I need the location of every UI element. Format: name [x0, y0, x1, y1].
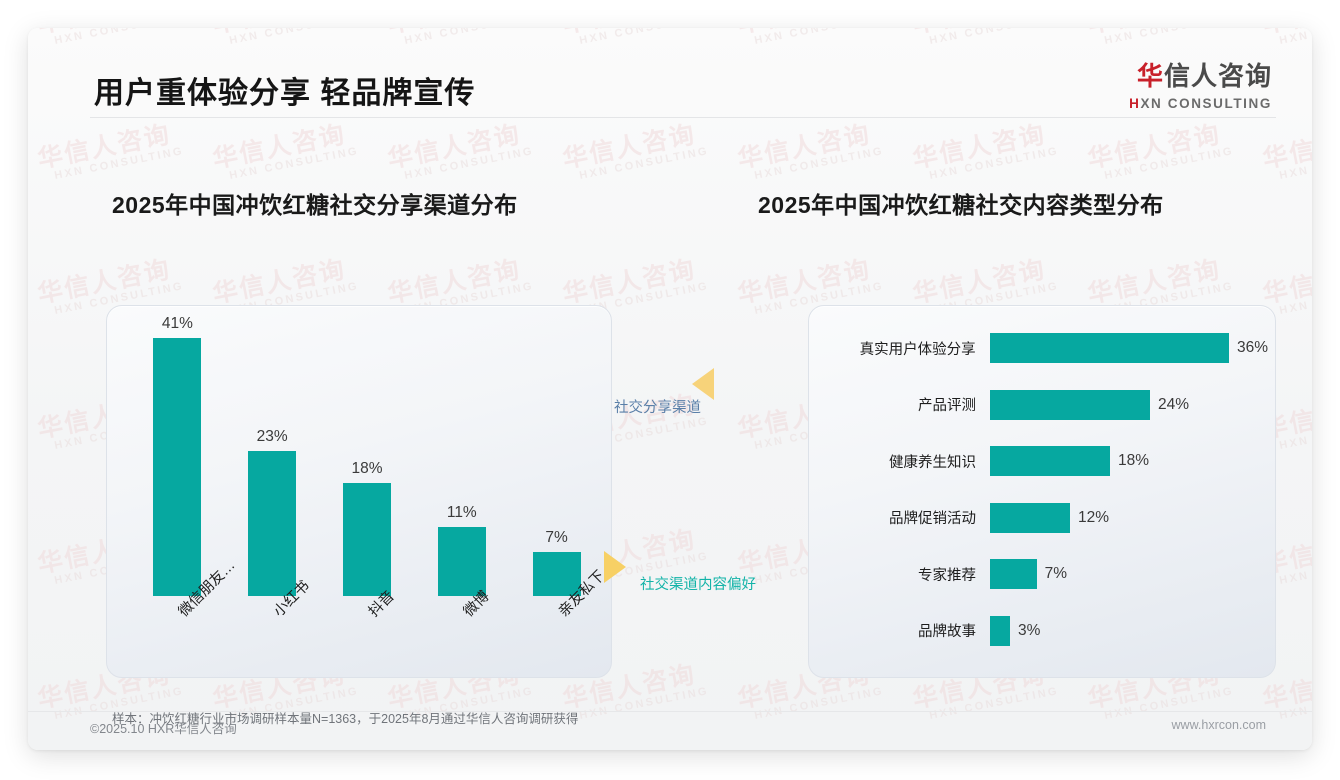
footer-copyright: ©2025.10 HXR华信人咨询 [90, 718, 237, 737]
bar-column[interactable]: 18% [339, 296, 395, 596]
vertical-bar-plot-area: 41%23%18%11%7% [130, 296, 604, 596]
page-title: 用户重体验分享 轻品牌宣传 [94, 68, 475, 112]
bar-value-label: 36% [1237, 339, 1268, 357]
middle-label-social-share-channel: 社交分享渠道 [614, 396, 701, 417]
left-chart-title: 2025年中国冲饮红糖社交分享渠道分布 [112, 186, 518, 220]
bar-category-label: 真实用户体验分享 [828, 338, 990, 359]
middle-label-content-preference: 社交渠道内容偏好 [640, 573, 756, 594]
watermark-text: 华信人咨询HXN CONSULTING [36, 120, 186, 186]
bar-category-label: 品牌故事 [828, 620, 990, 641]
social-content-type-bar-chart: 真实用户体验分享36%产品评测24%健康养生知识18%品牌促销活动12%专家推荐… [828, 320, 1268, 660]
bar-rect[interactable] [990, 333, 1229, 363]
logo-en-rest: XN CONSULTING [1140, 96, 1272, 111]
bar-rect[interactable] [248, 451, 296, 596]
slide-header: 用户重体验分享 轻品牌宣传 华信人咨询 HXN CONSULTING [28, 28, 1312, 118]
bar-value-label: 18% [1118, 452, 1149, 470]
bar-category-label: 专家推荐 [828, 564, 990, 585]
bar-rect[interactable] [990, 390, 1150, 420]
middle-top-label-text: 社交分享渠道 [614, 396, 701, 417]
bar-rect[interactable] [343, 483, 391, 596]
bar-row[interactable]: 品牌故事3% [828, 603, 1268, 660]
bar-value-label: 12% [1078, 509, 1109, 527]
logo-chinese: 华信人咨询 [1129, 56, 1272, 93]
bar-value-label: 7% [545, 529, 567, 547]
watermark-text: 华信人咨询HXN CONSULTING [561, 120, 711, 186]
middle-bottom-label-text: 社交渠道内容偏好 [640, 573, 756, 594]
bar-row[interactable]: 产品评测24% [828, 377, 1268, 434]
bar-row[interactable]: 专家推荐7% [828, 546, 1268, 603]
bar-category-label: 产品评测 [828, 394, 990, 415]
social-share-channel-bar-chart: 41%23%18%11%7% 微信朋友…小红书抖音微博亲友私下… [106, 288, 610, 678]
bar-value-label: 3% [1018, 622, 1040, 640]
slide-canvas: 华信人咨询HXN CONSULTING华信人咨询HXN CONSULTING华信… [28, 28, 1312, 750]
bar-value-label: 23% [257, 428, 288, 446]
brand-logo: 华信人咨询 HXN CONSULTING [1129, 56, 1272, 111]
bar-value-label: 18% [351, 460, 382, 478]
bar-column[interactable]: 23% [244, 296, 300, 596]
logo-chinese-rest: 信人咨询 [1164, 61, 1272, 91]
bar-rect[interactable] [990, 446, 1110, 476]
watermark-text: 华信人咨询HXN CONSULTING [911, 120, 1061, 186]
watermark-text: 华信人咨询HXN CONSULTING [1261, 120, 1312, 186]
bar-row[interactable]: 真实用户体验分享36% [828, 320, 1268, 377]
footer-website[interactable]: www.hxrcon.com [1172, 718, 1266, 732]
axis-label-cell: 小红书 [244, 600, 300, 676]
bar-row[interactable]: 品牌促销活动12% [828, 490, 1268, 547]
logo-accent-char: 华 [1137, 61, 1164, 91]
header-divider [90, 117, 1276, 118]
right-chart-title: 2025年中国冲饮红糖社交内容类型分布 [758, 186, 1164, 220]
bar-rect[interactable] [990, 559, 1037, 589]
slide-footer: ©2025.10 HXR华信人咨询 www.hxrcon.com [28, 706, 1312, 750]
vertical-bar-axis-labels: 微信朋友…小红书抖音微博亲友私下… [130, 600, 604, 676]
bar-rect[interactable] [990, 503, 1070, 533]
bar-category-label: 品牌促销活动 [828, 507, 990, 528]
triangle-right-icon [604, 551, 626, 583]
bar-column[interactable]: 7% [529, 296, 585, 596]
axis-label-cell: 微信朋友… [149, 600, 205, 676]
bar-value-label: 41% [162, 315, 193, 333]
axis-label-cell: 亲友私下… [529, 600, 585, 676]
axis-label-cell: 微博 [434, 600, 490, 676]
bar-value-label: 7% [1045, 565, 1067, 583]
watermark-text: 华信人咨询HXN CONSULTING [1086, 120, 1236, 186]
watermark-text: 华信人咨询HXN CONSULTING [211, 120, 361, 186]
bar-rect[interactable] [990, 616, 1010, 646]
bar-value-label: 24% [1158, 396, 1189, 414]
triangle-left-icon [692, 368, 714, 400]
watermark-text: 华信人咨询HXN CONSULTING [386, 120, 536, 186]
bar-row[interactable]: 健康养生知识18% [828, 433, 1268, 490]
bar-category-label: 健康养生知识 [828, 451, 990, 472]
logo-en-accent: H [1129, 96, 1140, 111]
bar-column[interactable]: 11% [434, 296, 490, 596]
bar-rect[interactable] [153, 338, 201, 596]
axis-label-cell: 抖音 [339, 600, 395, 676]
watermark-text: 华信人咨询HXN CONSULTING [736, 120, 886, 186]
logo-english: HXN CONSULTING [1129, 96, 1272, 111]
bar-column[interactable]: 41% [149, 296, 205, 596]
bar-value-label: 11% [447, 504, 477, 522]
